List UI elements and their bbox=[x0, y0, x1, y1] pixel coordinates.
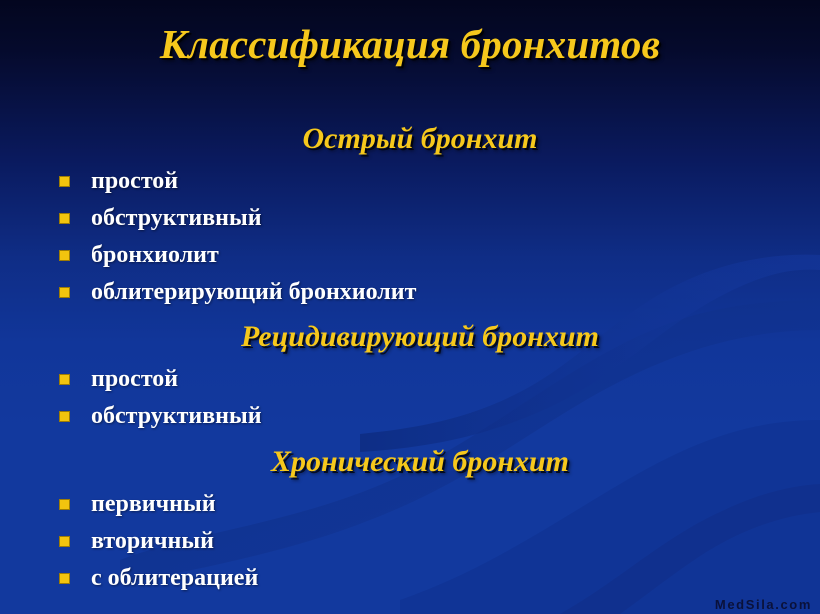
list-item-label: простой bbox=[91, 169, 178, 193]
list-item: облитерирующий бронхиолит bbox=[59, 277, 416, 307]
bullet-square-icon bbox=[59, 176, 70, 187]
list-item: обструктивный bbox=[59, 401, 262, 431]
bullet-square-icon bbox=[59, 411, 70, 422]
section-heading-chronic: Хронический бронхит bbox=[20, 445, 820, 479]
bullet-square-icon bbox=[59, 250, 70, 261]
section-heading-recurrent: Рецидивирующий бронхит bbox=[20, 320, 820, 354]
list-item-label: облитерирующий бронхиолит bbox=[91, 280, 416, 304]
list-item-label: обструктивный bbox=[91, 206, 262, 230]
list-item: с облитерацией bbox=[59, 563, 258, 593]
bullet-square-icon bbox=[59, 374, 70, 385]
bullet-square-icon bbox=[59, 287, 70, 298]
bullet-square-icon bbox=[59, 536, 70, 547]
section-heading-acute: Острый бронхит bbox=[20, 122, 820, 156]
list-item-label: бронхиолит bbox=[91, 243, 219, 267]
list-item: первичный bbox=[59, 489, 216, 519]
list-item: простой bbox=[59, 364, 178, 394]
bullet-square-icon bbox=[59, 573, 70, 584]
list-item: обструктивный bbox=[59, 203, 262, 233]
list-item-label: первичный bbox=[91, 492, 216, 516]
bullet-square-icon bbox=[59, 499, 70, 510]
list-item-label: простой bbox=[91, 367, 178, 391]
watermark-text: MedSila.com bbox=[715, 597, 812, 612]
list-item-label: обструктивный bbox=[91, 404, 262, 428]
list-item-label: вторичный bbox=[91, 529, 214, 553]
presentation-slide: Классификация бронхитов Острый бронхит п… bbox=[0, 0, 820, 614]
list-item: вторичный bbox=[59, 526, 214, 556]
list-item: простой bbox=[59, 166, 178, 196]
list-item-label: с облитерацией bbox=[91, 566, 258, 590]
bullet-square-icon bbox=[59, 213, 70, 224]
background-swoosh-decoration bbox=[0, 0, 820, 614]
slide-title: Классификация бронхитов bbox=[0, 20, 820, 68]
list-item: бронхиолит bbox=[59, 240, 219, 270]
